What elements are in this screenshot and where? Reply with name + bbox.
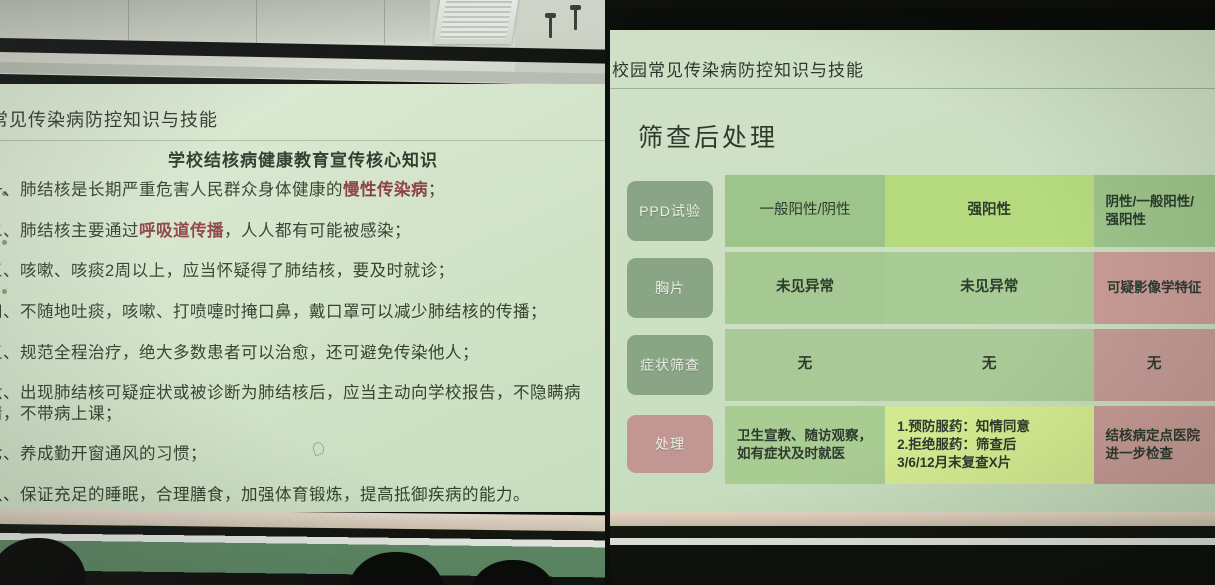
table-cell: 一般阳性/阴性: [725, 175, 885, 247]
left-slide-divider: [0, 140, 606, 141]
item-text: 肺结核是长期严重危害人民群众身体健康的: [20, 181, 343, 199]
right-projection-slide: 校园常见传染病防控知识与技能 筛查后处理 PPD试验 一般阳性/阴性 强阳性 阴…: [610, 30, 1215, 515]
ceiling-bracket-icon: [574, 8, 577, 30]
list-item: 四、不随地吐痰，咳嗽、打喷嚏时掩口鼻，戴口罩可以减少肺结核的传播；: [0, 302, 606, 323]
ceiling-seam: [128, 0, 129, 44]
row-cells: 卫生宣教、随访观察，如有症状及时就医 1.预防服药：知情同意 2.拒绝服药：筛查…: [725, 406, 1215, 484]
list-item: 八、保证充足的睡眠，合理膳食，加强体育锻炼，提高抵御疾病的能力。: [0, 485, 606, 506]
list-item: 二、肺结核主要通过呼吸道传播，人人都有可能被感染；: [0, 221, 606, 242]
list-item: 七、养成勤开窗通风的习惯；: [0, 444, 606, 465]
table-row: 处理 卫生宣教、随访观察，如有症状及时就医 1.预防服药：知情同意 2.拒绝服药…: [615, 406, 1215, 484]
table-row: 胸片 未见异常 未见异常 可疑影像学特征: [615, 252, 1215, 324]
table-cell: 强阳性: [885, 175, 1093, 247]
item-text-after: ，人人都有可能被感染；: [224, 222, 411, 240]
table-cell: 可疑影像学特征: [1094, 252, 1215, 324]
table-cell: 无: [725, 329, 885, 401]
item-text: 保证充足的睡眠，合理膳食，加强体育锻炼，提高抵御疾病的能力。: [20, 486, 530, 504]
right-screen-frame-top: [605, 8, 1215, 30]
table-cell: 无: [885, 329, 1093, 401]
item-number: 七、: [0, 445, 20, 463]
row-cells: 无 无 无: [725, 329, 1215, 401]
right-slide-divider: [610, 88, 1215, 89]
right-slide-header: 校园常见传染病防控知识与技能: [612, 56, 864, 81]
right-wall-board: [610, 526, 1215, 585]
table-cell: 无: [1094, 329, 1215, 401]
screening-results-table: PPD试验 一般阳性/阴性 强阳性 阴性/一般阳性/强阳性 胸片 未见异常 未见…: [615, 175, 1215, 489]
table-cell: 未见异常: [725, 252, 885, 324]
left-slide-list: 一、肺结核是长期严重危害人民群众身体健康的慢性传染病； 二、肺结核主要通过呼吸道…: [0, 180, 606, 512]
item-text: 规范全程治疗，绝大多数患者可以治愈，还可避免传染他人；: [20, 344, 479, 362]
item-number: 三、: [0, 262, 20, 280]
item-number: 五、: [0, 344, 20, 362]
table-cell: 未见异常: [885, 252, 1093, 324]
item-highlight: 慢性传染病: [343, 181, 428, 199]
item-number: 四、: [0, 303, 20, 321]
vent-louvers: [440, 1, 512, 39]
item-text-after: ；: [428, 181, 445, 199]
table-row: 症状筛查 无 无 无: [615, 329, 1215, 401]
row-label-management: 处理: [627, 415, 713, 473]
item-text: 养成勤开窗通风的习惯；: [20, 445, 207, 463]
item-text: 出现肺结核可疑症状或被诊断为肺结核后，应当主动向学校报告，不隐瞒病情，不带病上课…: [0, 384, 581, 423]
row-cells: 未见异常 未见异常 可疑影像学特征: [725, 252, 1215, 324]
list-item: 一、肺结核是长期严重危害人民群众身体健康的慢性传染病；: [0, 180, 606, 201]
list-item: 五、规范全程治疗，绝大多数患者可以治愈，还可避免传染他人；: [0, 343, 606, 364]
ceiling-bracket-icon: [549, 16, 552, 38]
row-label-symptom-screening: 症状筛查: [627, 335, 713, 395]
table-cell: 阴性/一般阳性/强阳性: [1094, 175, 1215, 247]
left-slide-heading: 学校结核病健康教育宣传核心知识: [0, 146, 606, 171]
item-number: 二、: [0, 222, 20, 240]
left-slide-header: 常见传染病防控知识与技能: [0, 106, 218, 132]
item-text: 咳嗽、咳痰2周以上，应当怀疑得了肺结核，要及时就诊；: [20, 262, 455, 280]
item-number: 一、: [0, 181, 20, 199]
ceiling-seam: [256, 0, 257, 44]
row-label-chest-xray: 胸片: [627, 258, 713, 318]
item-number: 八、: [0, 486, 20, 504]
right-slide-heading: 筛查后处理: [638, 118, 778, 154]
table-cell: 结核病定点医院进一步检查: [1094, 406, 1215, 484]
ceiling-panel: [0, 0, 430, 42]
item-highlight: 呼吸道传播: [139, 222, 224, 240]
table-cell: 1.预防服药：知情同意 2.拒绝服药：筛查后 3/6/12月末复查X片: [885, 406, 1093, 484]
row-label-ppd: PPD试验: [627, 181, 713, 241]
classroom-photo: 常见传染病防控知识与技能 学校结核病健康教育宣传核心知识 一、肺结核是长期严重危…: [0, 0, 1215, 585]
left-projection-slide: 常见传染病防控知识与技能 学校结核病健康教育宣传核心知识 一、肺结核是长期严重危…: [0, 84, 606, 512]
list-item: 六、出现肺结核可疑症状或被诊断为肺结核后，应当主动向学校报告，不隐瞒病情，不带病…: [0, 383, 606, 424]
row-cells: 一般阳性/阴性 强阳性 阴性/一般阳性/强阳性: [725, 175, 1215, 247]
air-vent-icon: [433, 0, 519, 44]
ceiling-seam: [384, 0, 385, 44]
list-item: 三、咳嗽、咳痰2周以上，应当怀疑得了肺结核，要及时就诊；: [0, 261, 606, 282]
table-row: PPD试验 一般阳性/阴性 强阳性 阴性/一般阳性/强阳性: [615, 175, 1215, 247]
item-number: 六、: [0, 384, 20, 402]
item-text: 不随地吐痰，咳嗽、打喷嚏时掩口鼻，戴口罩可以减少肺结核的传播；: [20, 303, 547, 321]
table-cell: 卫生宣教、随访观察，如有症状及时就医: [725, 406, 885, 484]
item-text: 肺结核主要通过: [20, 222, 139, 240]
